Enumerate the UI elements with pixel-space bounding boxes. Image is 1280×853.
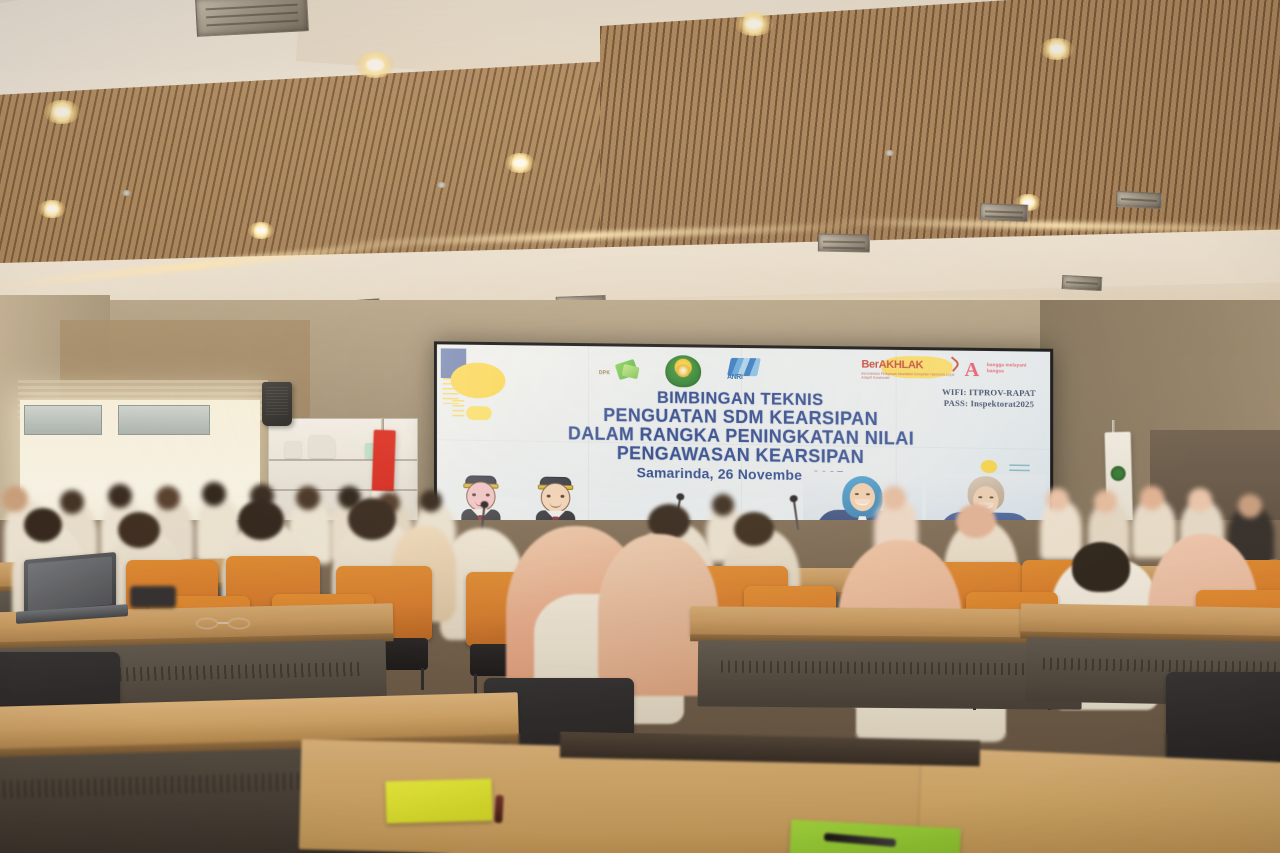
- audience-person-head: [60, 490, 84, 514]
- garuda-emblem-logo: [665, 355, 701, 387]
- ceiling-downlight: [38, 200, 66, 218]
- audience-person-head: [1094, 490, 1117, 513]
- audience-person-head: [1188, 488, 1212, 512]
- audience-person-head: [734, 512, 774, 546]
- anri-logo-text: ANRI: [727, 374, 742, 381]
- flag-emblem: [1110, 466, 1125, 481]
- eyeglasses: [196, 618, 258, 630]
- audience-person-head: [420, 490, 442, 512]
- audience-person-head: [238, 500, 284, 540]
- audience-person-head: [712, 494, 734, 516]
- desk-accessory: [130, 586, 176, 608]
- window-pane: [24, 405, 102, 435]
- dpk-logo: DPK: [599, 361, 641, 385]
- audience-person-head: [882, 486, 906, 510]
- audience-person-head: [156, 486, 180, 510]
- audience-person-head: [1140, 486, 1164, 510]
- photo-scene: DPK ANRI BerAKHLAK Berorientasi Pelayana…: [0, 0, 1280, 853]
- audience-person-head: [1238, 494, 1262, 518]
- ac-diffuser: [1062, 275, 1103, 291]
- audience-person-head: [296, 486, 320, 510]
- wall-speaker: [262, 382, 292, 426]
- bangga-melayani-bangsa-logo: A bangga melayani bangsa: [965, 360, 1044, 387]
- audience-person-head: [1046, 488, 1069, 511]
- window-pane: [118, 405, 210, 435]
- laptop[interactable]: [16, 556, 120, 626]
- ac-diffuser: [1116, 191, 1163, 209]
- berakhlak-logo: BerAKHLAK Berorientasi Pelayanan Akuntab…: [861, 360, 954, 387]
- berakhlak-logo-tagline: Berorientasi Pelayanan Akuntabel Kompete…: [861, 372, 954, 381]
- ceiling-downlight: [735, 12, 773, 36]
- bangga-mark-icon: A: [965, 361, 983, 380]
- slide-title: BIMBINGAN TEKNIS PENGUATAN SDM KEARSIPAN…: [437, 386, 1050, 470]
- audience-person-head: [108, 484, 132, 508]
- audience-person-head: [2, 486, 28, 512]
- audience-person-head: [348, 498, 396, 540]
- yellow-notepad[interactable]: [385, 779, 492, 824]
- bangga-logo-text: bangga melayani bangsa: [987, 362, 1044, 374]
- ac-diffuser: [195, 0, 309, 37]
- ceiling-downlight: [44, 100, 80, 124]
- audience-person-head: [1072, 542, 1130, 592]
- ceiling-downlight: [355, 52, 395, 78]
- sprinkler-head: [885, 150, 894, 156]
- ceiling-downlight: [1040, 38, 1074, 60]
- slide-logo-row: DPK ANRI BerAKHLAK Berorientasi Pelayana…: [437, 349, 1050, 391]
- ceiling-downlight: [248, 222, 274, 239]
- ceiling-downlight: [505, 153, 535, 173]
- ac-diffuser: [818, 234, 870, 253]
- audience-person-head: [202, 482, 226, 506]
- sprinkler-head: [437, 182, 446, 188]
- audience-person-hijab: [956, 504, 996, 538]
- ac-diffuser: [980, 203, 1029, 222]
- audience-person-head: [118, 512, 160, 548]
- audience-person-head: [24, 508, 62, 542]
- berakhlak-logo-text: BerAKHLAK: [861, 360, 954, 372]
- dpk-logo-text: DPK: [599, 370, 610, 376]
- sprinkler-head: [122, 190, 131, 196]
- anri-logo: ANRI: [721, 358, 767, 387]
- brown-pen[interactable]: [494, 795, 503, 823]
